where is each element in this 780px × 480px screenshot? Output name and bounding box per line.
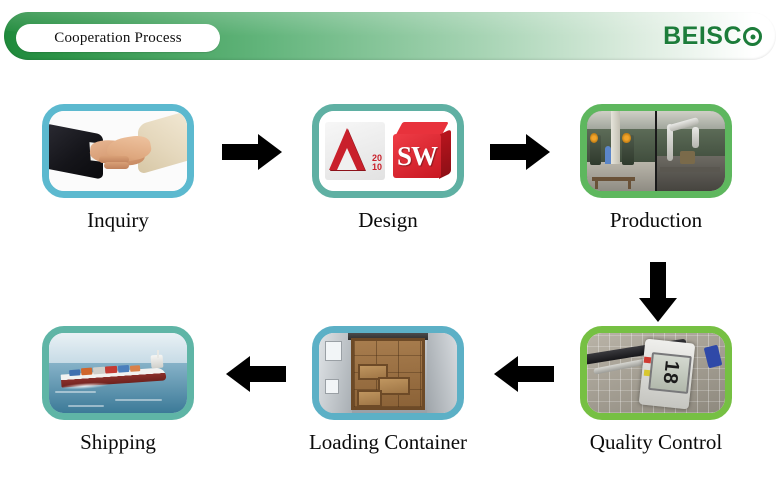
arrow-shaft xyxy=(490,144,528,160)
ship-sky xyxy=(49,333,187,363)
step-loading-container-frame xyxy=(312,326,464,420)
ship-wave-2 xyxy=(115,399,162,401)
autocad-version: 20 10 xyxy=(372,154,382,172)
factory-worker xyxy=(605,146,611,164)
container-loading-photo xyxy=(319,333,457,413)
step-design-label: Design xyxy=(358,208,418,233)
arrow-head xyxy=(258,134,282,170)
cad-software-logos: 20 10 SW xyxy=(319,111,457,191)
factory-flywheel-1 xyxy=(590,133,598,143)
caliper-reading: 18 xyxy=(658,359,683,386)
brand-logo: BEISC xyxy=(663,22,762,51)
robot-table xyxy=(660,167,720,172)
factory-flywheel-2 xyxy=(622,133,630,143)
step-design-frame: 20 10 SW xyxy=(312,104,464,198)
step-design[interactable]: 20 10 SW Design xyxy=(312,104,464,198)
brand-logo-text: BEISC xyxy=(663,22,742,51)
step-shipping-frame xyxy=(42,326,194,420)
step-production-label: Production xyxy=(610,208,702,233)
factory-workshop-photo xyxy=(587,111,725,191)
factory-bench-leg-1 xyxy=(595,180,598,190)
step-production-frame xyxy=(580,104,732,198)
caliper-button-red xyxy=(643,357,650,363)
autocad-a-inner xyxy=(337,148,357,170)
step-production[interactable]: Production xyxy=(580,104,732,198)
step-inquiry[interactable]: Inquiry xyxy=(42,104,194,198)
arrow-head xyxy=(494,356,518,392)
arrow-inquiry-to-design xyxy=(222,134,284,170)
ship-wave-1 xyxy=(55,391,96,393)
arrow-head xyxy=(639,298,677,322)
arrow-head xyxy=(226,356,250,392)
arrow-shaft xyxy=(222,144,260,160)
container-carton-2 xyxy=(378,377,411,396)
robot-arm-head xyxy=(692,127,699,148)
arrow-shaft xyxy=(516,366,554,382)
step-loading-container-label: Loading Container xyxy=(309,430,467,455)
container-wall-right xyxy=(427,333,457,413)
handshake-finger-2 xyxy=(104,162,129,169)
container-window-2 xyxy=(325,379,339,394)
page-title: Cooperation Process xyxy=(54,30,182,47)
container-window-1 xyxy=(325,341,342,361)
arrow-head xyxy=(526,134,550,170)
ship-container-6 xyxy=(130,365,141,372)
digital-caliper-photo: 18 xyxy=(587,333,725,413)
step-shipping[interactable]: Shipping xyxy=(42,326,194,420)
step-shipping-label: Shipping xyxy=(80,430,156,455)
container-cargo-stack xyxy=(351,338,426,410)
ship-wave-3 xyxy=(68,405,104,407)
brand-ring-dot-icon xyxy=(743,27,762,46)
container-ship-photo xyxy=(49,333,187,413)
ship-container-1 xyxy=(69,369,81,376)
step-quality-control[interactable]: 18 Quality Control xyxy=(580,326,732,420)
arrow-production-to-quality-control xyxy=(639,262,677,324)
ship-container-3 xyxy=(93,367,105,374)
cooperation-process-diagram: Cooperation Process BEISC Inquiry xyxy=(0,0,780,480)
factory-photo-right xyxy=(655,111,725,191)
arrow-quality-control-to-loading-container xyxy=(492,356,554,392)
solidworks-letters: SW xyxy=(393,134,441,178)
step-inquiry-frame xyxy=(42,104,194,198)
arrow-shaft xyxy=(248,366,286,382)
factory-pillar xyxy=(611,111,620,164)
caliper-display: 18 xyxy=(649,352,693,394)
step-quality-control-label: Quality Control xyxy=(590,430,722,455)
solidworks-logo: SW xyxy=(393,122,451,180)
page-title-pill: Cooperation Process xyxy=(16,24,220,52)
ship-container-5 xyxy=(117,365,129,372)
step-loading-container[interactable]: Loading Container xyxy=(312,326,464,420)
autocad-logo: 20 10 xyxy=(325,122,385,180)
autocad-version-bottom: 10 xyxy=(372,163,382,172)
container-carton-3 xyxy=(357,390,382,407)
arrow-design-to-production xyxy=(490,134,552,170)
arrow-loading-container-to-shipping xyxy=(224,356,286,392)
factory-bench-leg-2 xyxy=(628,180,631,190)
robot-workpiece xyxy=(680,151,695,164)
ship-container-2 xyxy=(81,367,93,374)
step-inquiry-label: Inquiry xyxy=(87,208,149,233)
step-quality-control-frame: 18 xyxy=(580,326,732,420)
handshake-photo xyxy=(49,111,187,191)
ship-mast xyxy=(157,350,159,358)
arrow-shaft xyxy=(650,262,666,300)
factory-photo-left xyxy=(587,111,655,191)
ship-container-4 xyxy=(105,365,117,373)
